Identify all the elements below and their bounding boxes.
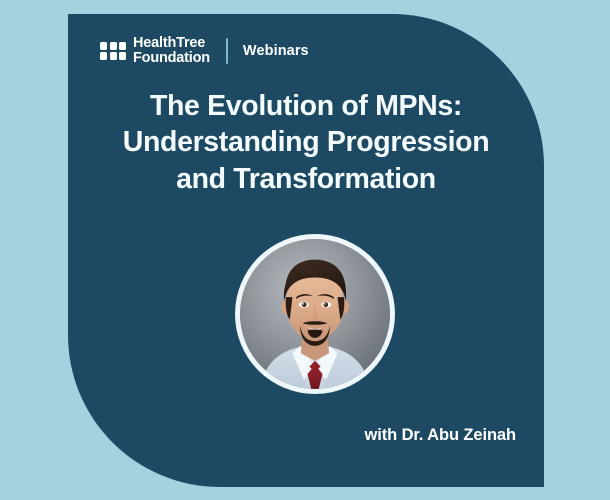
title-line-3: and Transformation <box>86 161 526 197</box>
logo-tile <box>100 42 107 50</box>
speaker-avatar <box>240 239 390 389</box>
healthtree-grid-logo-icon <box>100 42 126 61</box>
logo-tile <box>119 42 126 50</box>
brand-lockup: HealthTree Foundation Webinars <box>100 36 309 66</box>
webinar-title: The Evolution of MPNs: Understanding Pro… <box>68 88 544 197</box>
brand-name-line-2: Foundation <box>133 51 210 66</box>
vertical-divider-icon <box>226 38 228 64</box>
logo-tile <box>110 52 117 60</box>
speaker-avatar-ring <box>235 234 395 394</box>
title-line-1: The Evolution of MPNs: <box>86 88 526 124</box>
logo-tile <box>110 42 117 50</box>
brand-section-label: Webinars <box>243 43 309 59</box>
title-line-2: Understanding Progression <box>86 124 526 160</box>
logo-tile <box>119 52 126 60</box>
brand-wordmark: HealthTree Foundation <box>133 36 210 66</box>
brand-name-line-1: HealthTree <box>133 36 210 51</box>
logo-tile <box>100 52 107 60</box>
speaker-credit: with Dr. Abu Zeinah <box>365 426 517 445</box>
content-panel: HealthTree Foundation Webinars The Evolu… <box>68 14 544 487</box>
webinar-promo-graphic: HealthTree Foundation Webinars The Evolu… <box>0 0 610 500</box>
